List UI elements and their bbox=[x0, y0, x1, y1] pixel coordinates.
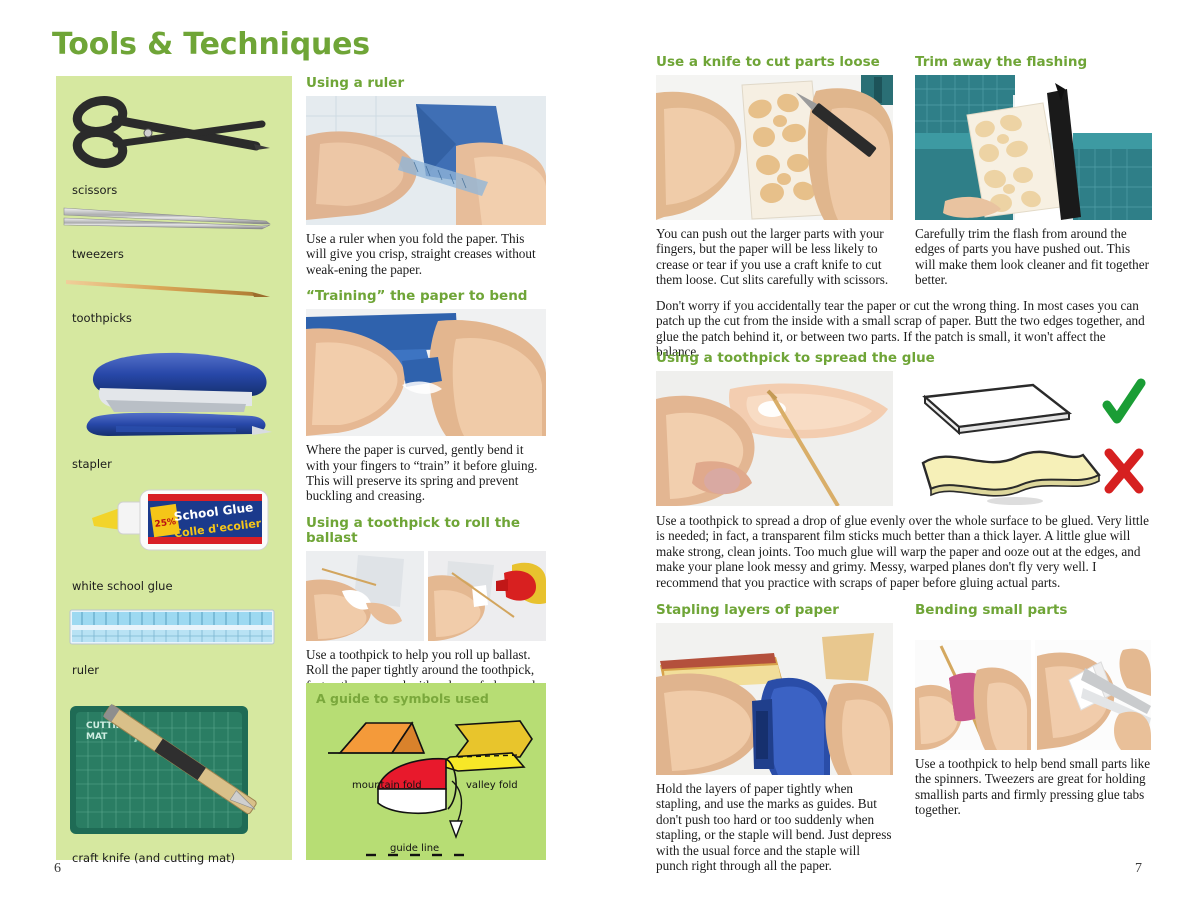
tool-item-ruler: ruler bbox=[56, 598, 292, 677]
photo-fingers-bending-blue-paper bbox=[306, 309, 546, 436]
tool-label: white school glue bbox=[72, 579, 292, 593]
section-heading: Use a knife to cut parts loose bbox=[656, 55, 893, 70]
tool-label: craft knife (and cutting mat) bbox=[72, 851, 292, 865]
photo-trimming-flash bbox=[915, 75, 1152, 220]
craft-knife-icon: CUTTING MAT A7 bbox=[56, 684, 292, 844]
section-body: Carefully trim the flash from around the… bbox=[915, 226, 1152, 288]
toothpick-icon bbox=[56, 272, 292, 306]
tool-label: toothpicks bbox=[72, 311, 292, 325]
section-body: Hold the layers of paper tightly when st… bbox=[656, 781, 893, 873]
valley-fold-label: valley fold bbox=[466, 780, 518, 791]
glue-good-bad-diagram bbox=[893, 371, 1152, 506]
page-number-right: 7 bbox=[1135, 861, 1142, 877]
photo-tweezers-pressing-part bbox=[1035, 640, 1151, 750]
section-heading: Using a ruler bbox=[306, 76, 546, 91]
tool-item-scissors: scissors bbox=[56, 90, 292, 197]
photo-rolling-paper-on-toothpick bbox=[306, 551, 424, 641]
tool-item-craft-knife: CUTTING MAT A7 craft knife (and cutting … bbox=[56, 684, 292, 865]
section-heading: Trim away the flashing bbox=[915, 55, 1152, 70]
section-heading: Using a toothpick to spread the glue bbox=[656, 351, 1152, 366]
section-heading: Using a toothpick to roll the ballast bbox=[306, 516, 546, 546]
section-stapling: Stapling layers of paper bbox=[656, 603, 893, 873]
section-knife-cut-parts: Use a knife to cut parts loose bbox=[656, 55, 893, 288]
page-number-left: 6 bbox=[54, 861, 61, 877]
section-heading: Stapling layers of paper bbox=[656, 603, 893, 618]
tool-label: stapler bbox=[72, 457, 292, 471]
guide-line-shape bbox=[366, 759, 464, 855]
tweezers-icon bbox=[56, 198, 292, 240]
tool-item-glue: 25% School Glue Colle d'ecolier white sc… bbox=[56, 474, 292, 593]
mountain-fold-label: mountain fold bbox=[352, 780, 422, 791]
book-spread: Tools & Techniques scissors bbox=[0, 0, 1198, 899]
photo-gluing-rolled-ballast bbox=[428, 551, 546, 641]
symbols-heading: A guide to symbols used bbox=[316, 691, 489, 706]
guide-line-label: guide line bbox=[390, 843, 439, 854]
section-using-a-ruler: Using a ruler bbox=[306, 76, 546, 277]
section-heading: “Training” the paper to bend bbox=[306, 289, 546, 304]
photo-bending-spinner-toothpick bbox=[915, 640, 1031, 750]
ruler-icon bbox=[56, 598, 292, 658]
tools-panel: scissors tweezers bbox=[56, 76, 292, 860]
scissors-icon bbox=[56, 90, 292, 176]
section-body: You can push out the larger parts with y… bbox=[656, 226, 893, 288]
section-rolling-ballast: Using a toothpick to roll the ballast bbox=[306, 516, 546, 709]
section-body: Where the paper is curved, gently bend i… bbox=[306, 442, 546, 504]
section-body: Use a toothpick to spread a drop of glue… bbox=[656, 513, 1152, 590]
tool-item-toothpicks: toothpicks bbox=[56, 272, 292, 325]
photo-hand-folding-paper-with-ruler bbox=[306, 96, 546, 225]
tool-item-stapler: stapler bbox=[56, 340, 292, 471]
tool-item-tweezers: tweezers bbox=[56, 198, 292, 261]
section-body: Use a ruler when you fold the paper. Thi… bbox=[306, 231, 546, 277]
section-heading: Bending small parts bbox=[915, 603, 1152, 618]
svg-text:MAT: MAT bbox=[86, 732, 108, 742]
tool-label: ruler bbox=[72, 663, 292, 677]
tool-label: scissors bbox=[72, 183, 292, 197]
photo-toothpick-spreading-glue bbox=[656, 371, 893, 506]
stapler-icon bbox=[56, 340, 292, 450]
middle-column: Using a ruler bbox=[306, 76, 546, 717]
photo-stapling-layers bbox=[656, 623, 893, 775]
section-bending-small-parts: Bending small parts bbox=[915, 603, 1152, 818]
photo-craft-knife-cutting-parts bbox=[656, 75, 893, 220]
glue-bottle-icon: 25% School Glue Colle d'ecolier bbox=[56, 474, 292, 570]
page-title: Tools & Techniques bbox=[52, 27, 370, 62]
section-training-the-paper: “Training” the paper to bend Where the p… bbox=[306, 289, 546, 504]
tool-label: tweezers bbox=[72, 247, 292, 261]
section-spread-glue: Using a toothpick to spread the glue bbox=[656, 351, 1152, 590]
section-body: Use a toothpick to help bend small parts… bbox=[915, 756, 1152, 818]
valley-fold-shape bbox=[438, 721, 532, 771]
mountain-fold-shape bbox=[328, 723, 424, 753]
section-trim-flashing: Trim away the flashing bbox=[915, 55, 1152, 288]
right-page: Use a knife to cut parts loose bbox=[656, 0, 1152, 899]
symbols-guide-box: A guide to symbols used bbox=[306, 683, 546, 860]
